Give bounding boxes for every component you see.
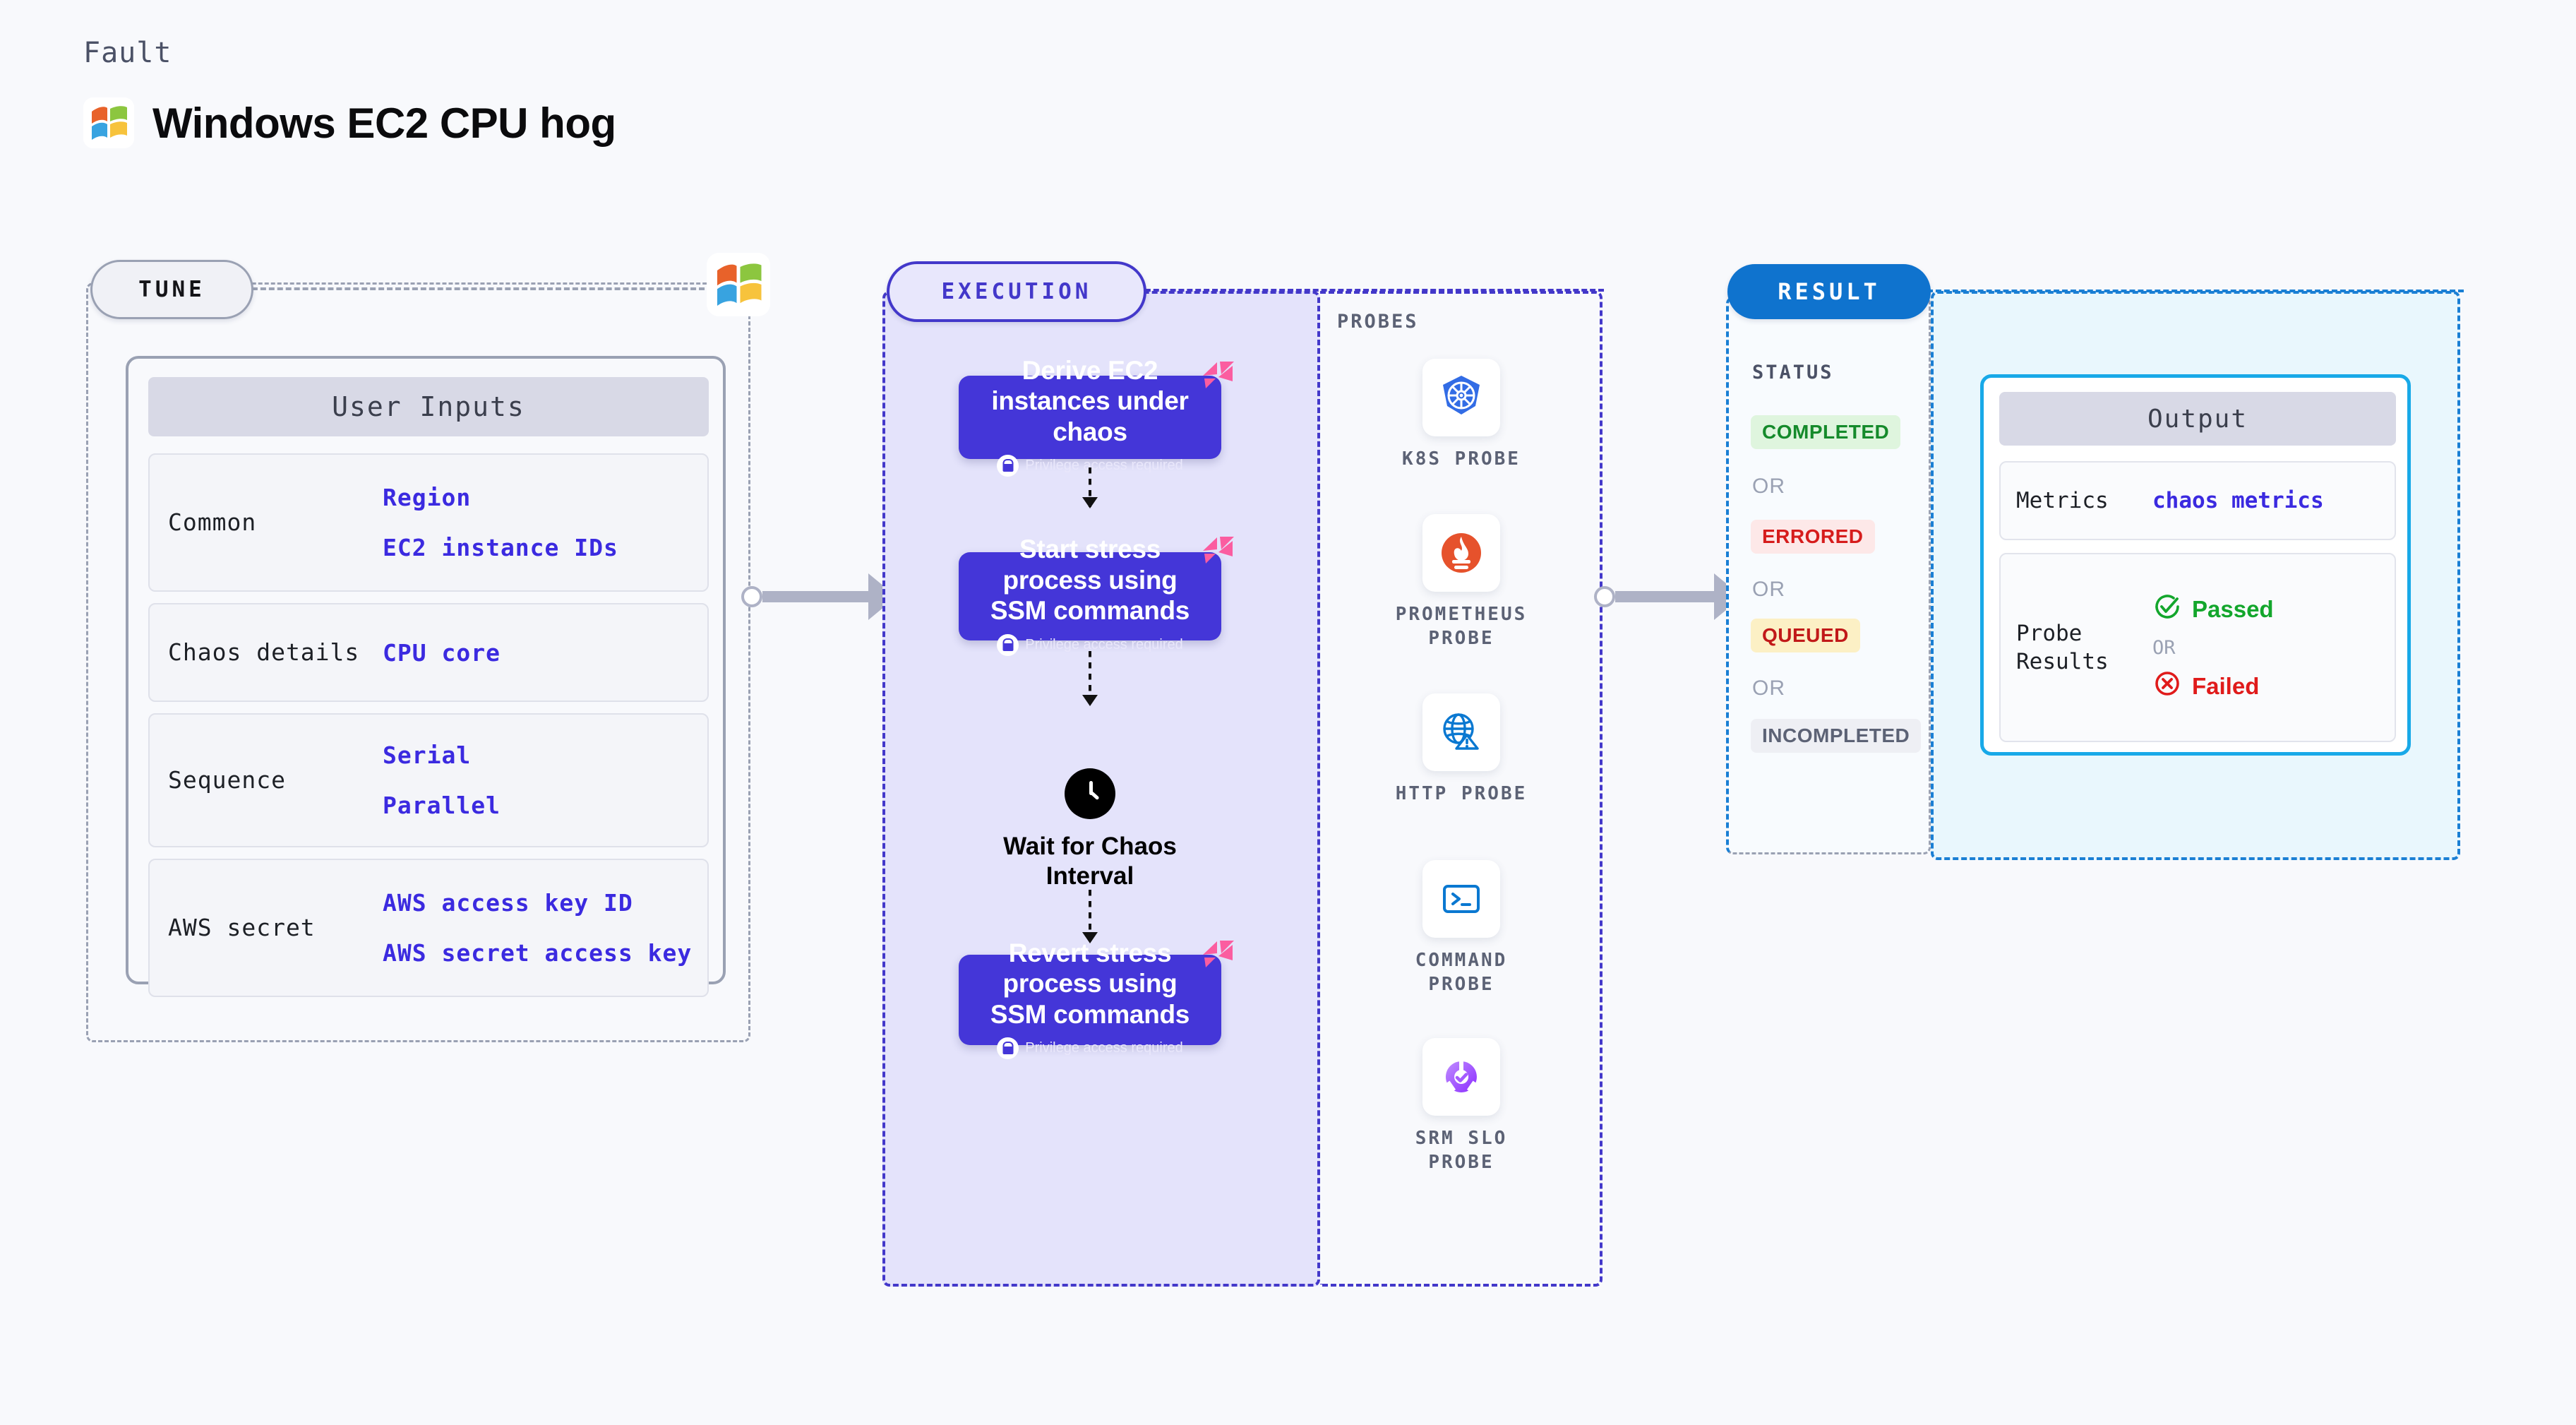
- connector-start-dot: [741, 586, 762, 607]
- execution-step-derive[interactable]: Derive EC2 instances under chaos Privile…: [959, 376, 1221, 459]
- probe-item-k8s[interactable]: K8S PROBE: [1373, 359, 1550, 472]
- table-row[interactable]: Chaos details CPU core: [148, 603, 709, 702]
- row-value[interactable]: Region: [383, 484, 618, 511]
- privilege-note-text: Privilege access required: [1025, 1040, 1182, 1056]
- privilege-note-text: Privilege access required: [1025, 637, 1182, 653]
- or-label: OR: [1752, 475, 1785, 499]
- or-label: OR: [1752, 676, 1785, 700]
- step-title: Start stress process using SSM commands: [971, 534, 1209, 626]
- wait-for-chaos-interval-label: Wait for Chaos Interval: [974, 832, 1206, 891]
- output-title: Output: [1999, 392, 2396, 446]
- tune-pill-connector: [244, 287, 713, 290]
- table-row[interactable]: AWS secret AWS access key ID AWS secret …: [148, 859, 709, 997]
- flow-arrow: [1089, 467, 1091, 507]
- probe-result-failed: Failed: [2152, 669, 2274, 704]
- row-value[interactable]: AWS secret access key: [383, 939, 692, 967]
- user-inputs-card: User Inputs Common Region EC2 instance I…: [126, 356, 726, 984]
- probes-label: PROBES: [1337, 311, 1419, 333]
- page-eyebrow: Fault: [83, 37, 172, 69]
- row-value[interactable]: Parallel: [383, 792, 501, 819]
- lock-icon: [997, 634, 1019, 656]
- row-value[interactable]: EC2 instance IDs: [383, 534, 618, 561]
- row-key: Probe Results: [2001, 619, 2152, 676]
- flow-arrow: [1089, 651, 1091, 705]
- row-value[interactable]: Serial: [383, 741, 501, 769]
- passed-label: Passed: [2192, 596, 2274, 623]
- http-globe-icon: [1422, 693, 1500, 771]
- tune-pill[interactable]: TUNE: [90, 260, 253, 319]
- kubernetes-icon: [1422, 359, 1500, 436]
- srm-slo-icon: [1422, 1038, 1500, 1116]
- user-inputs-title: User Inputs: [148, 377, 709, 436]
- page-title: Windows EC2 CPU hog: [152, 99, 616, 148]
- output-card: Output Metrics chaos metrics Probe Resul…: [1980, 374, 2411, 756]
- connector-line: [1615, 591, 1714, 602]
- failed-label: Failed: [2192, 673, 2259, 700]
- row-key: AWS secret: [150, 913, 383, 942]
- probe-label: HTTP PROBE: [1396, 782, 1528, 806]
- lock-icon: [997, 1037, 1019, 1059]
- connector-line: [762, 591, 868, 602]
- probe-label: COMMAND PROBE: [1415, 949, 1508, 997]
- check-circle-icon: [2152, 592, 2182, 627]
- status-label: STATUS: [1752, 362, 1834, 383]
- result-pill[interactable]: RESULT: [1727, 264, 1931, 319]
- output-row-probe-results[interactable]: Probe Results Passed OR: [1999, 553, 2396, 742]
- row-key: Metrics: [2001, 487, 2152, 515]
- probe-item-srm-slo[interactable]: SRM SLO PROBE: [1373, 1038, 1550, 1175]
- probe-label: SRM SLO PROBE: [1415, 1127, 1508, 1175]
- lock-icon: [997, 455, 1019, 477]
- probe-label: PROMETHEUS PROBE: [1396, 603, 1528, 651]
- or-label: OR: [1752, 578, 1785, 602]
- probe-label: K8S PROBE: [1402, 448, 1521, 472]
- flow-arrow: [1089, 890, 1091, 942]
- status-badge: COMPLETED: [1751, 415, 1900, 449]
- probe-item-prometheus[interactable]: PROMETHEUS PROBE: [1373, 514, 1550, 651]
- row-value[interactable]: CPU core: [383, 639, 501, 667]
- probe-result-passed: Passed: [2152, 592, 2274, 627]
- terminal-icon: [1422, 860, 1500, 938]
- privilege-note: Privilege access required: [997, 1037, 1182, 1059]
- execution-step-start-stress[interactable]: Start stress process using SSM commands …: [959, 552, 1221, 640]
- page-title-row: Windows EC2 CPU hog: [83, 97, 616, 148]
- x-circle-icon: [2152, 669, 2182, 704]
- row-key: Sequence: [150, 765, 383, 794]
- windows-logo-icon: [83, 97, 134, 148]
- connector-start-dot: [1594, 586, 1615, 607]
- table-row[interactable]: Common Region EC2 instance IDs: [148, 453, 709, 592]
- step-title: Derive EC2 instances under chaos: [971, 355, 1209, 448]
- windows-logo-icon: [707, 253, 770, 320]
- step-title: Revert stress process using SSM commands: [971, 938, 1209, 1030]
- privilege-note-text: Privilege access required: [1025, 458, 1182, 474]
- prometheus-icon: [1422, 514, 1500, 592]
- execution-step-revert-stress[interactable]: Revert stress process using SSM commands…: [959, 955, 1221, 1045]
- row-value[interactable]: AWS access key ID: [383, 889, 692, 917]
- probe-item-http[interactable]: HTTP PROBE: [1373, 693, 1550, 806]
- probe-item-command[interactable]: COMMAND PROBE: [1373, 860, 1550, 997]
- row-key: Chaos details: [150, 638, 383, 667]
- tune-to-execution-connector: [741, 573, 897, 620]
- status-badge: INCOMPLETED: [1751, 719, 1921, 753]
- execution-pill[interactable]: EXECUTION: [887, 261, 1146, 322]
- table-row[interactable]: Sequence Serial Parallel: [148, 713, 709, 847]
- row-key: Common: [150, 508, 383, 537]
- row-value[interactable]: chaos metrics: [2152, 488, 2324, 513]
- clock-icon: [1065, 768, 1115, 819]
- result-pill-connector: [1927, 290, 2464, 292]
- execution-pill-connector: [1137, 289, 1604, 292]
- status-badge: ERRORED: [1751, 520, 1875, 554]
- or-label: OR: [2152, 637, 2274, 659]
- status-badge: QUEUED: [1751, 619, 1860, 652]
- output-row-metrics[interactable]: Metrics chaos metrics: [1999, 461, 2396, 540]
